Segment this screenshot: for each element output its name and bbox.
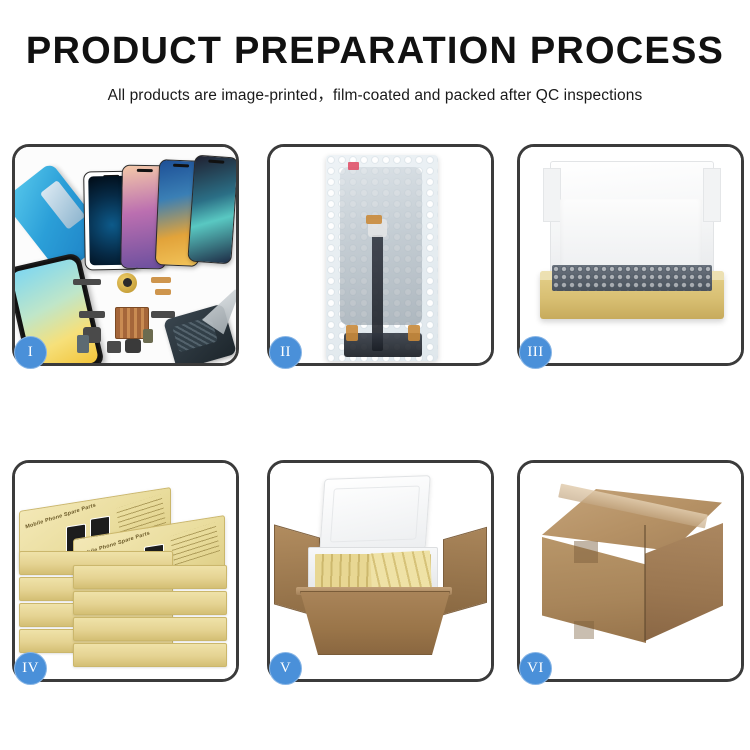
coil-part-icon [117, 273, 137, 293]
header: PRODUCT PREPARATION PROCESS All products… [0, 0, 750, 105]
bubble-wrap-package [326, 155, 438, 361]
flex-connector-right [408, 325, 420, 341]
part-block-2 [77, 335, 89, 353]
step-2-image [270, 147, 491, 363]
product-preparation-infographic: PRODUCT PREPARATION PROCESS All products… [0, 0, 750, 750]
page-title: PRODUCT PREPARATION PROCESS [0, 32, 750, 70]
stack-box-8 [73, 591, 227, 615]
part-block-5 [143, 329, 153, 343]
yellow-box-tray [540, 271, 724, 319]
stack-box-10 [73, 643, 227, 667]
step-6-image [520, 463, 741, 679]
stack-box-9 [73, 617, 227, 641]
part-strip-2 [79, 311, 105, 318]
phone-screen-4 [187, 155, 236, 265]
step-card-1[interactable]: I [12, 144, 239, 366]
step-5-image [270, 463, 491, 679]
step-3-image [520, 147, 741, 363]
step-card-3[interactable]: III [517, 144, 744, 366]
box-stack: Mobile Phone Spare Parts Mobile Phone Sp… [19, 477, 235, 673]
foam-box-lid [319, 475, 431, 553]
step-badge-6: VI [519, 652, 552, 685]
step-card-6[interactable]: VI [517, 460, 744, 682]
step-badge-2: II [269, 336, 302, 369]
step-badge-5: V [269, 652, 302, 685]
flex-connector-left [346, 325, 358, 341]
step-badge-1: I [14, 336, 47, 369]
part-strip-1 [73, 279, 101, 285]
connector-2 [155, 289, 171, 295]
step-badge-3: III [519, 336, 552, 369]
carton-edge-line [644, 525, 646, 641]
steps-grid: I II [12, 144, 738, 682]
step-card-5[interactable]: V [267, 460, 494, 682]
phone-fan-group [75, 155, 236, 270]
carton-seam-top [574, 541, 598, 563]
step-card-4[interactable]: Mobile Phone Spare Parts Mobile Phone Sp… [12, 460, 239, 682]
part-block-3 [107, 341, 121, 353]
flex-connector-top [366, 215, 382, 224]
spare-parts-group [73, 271, 236, 363]
stack-box-7 [73, 565, 227, 589]
page-subtitle: All products are image-printed，film-coat… [0, 83, 750, 105]
step-card-2[interactable]: II [267, 144, 494, 366]
box-spec-lines-2 [170, 522, 220, 565]
carton-seam-bottom [574, 621, 594, 639]
part-block-4 [125, 339, 141, 353]
connector-1 [151, 277, 171, 283]
step-4-image: Mobile Phone Spare Parts Mobile Phone Sp… [15, 463, 236, 679]
bubble-wrapped-contents [552, 265, 712, 291]
step-badge-4: IV [14, 652, 47, 685]
red-label-tag [348, 162, 359, 170]
carton-body [300, 591, 450, 655]
step-1-image [15, 147, 236, 363]
carton-flap-right [443, 527, 487, 616]
